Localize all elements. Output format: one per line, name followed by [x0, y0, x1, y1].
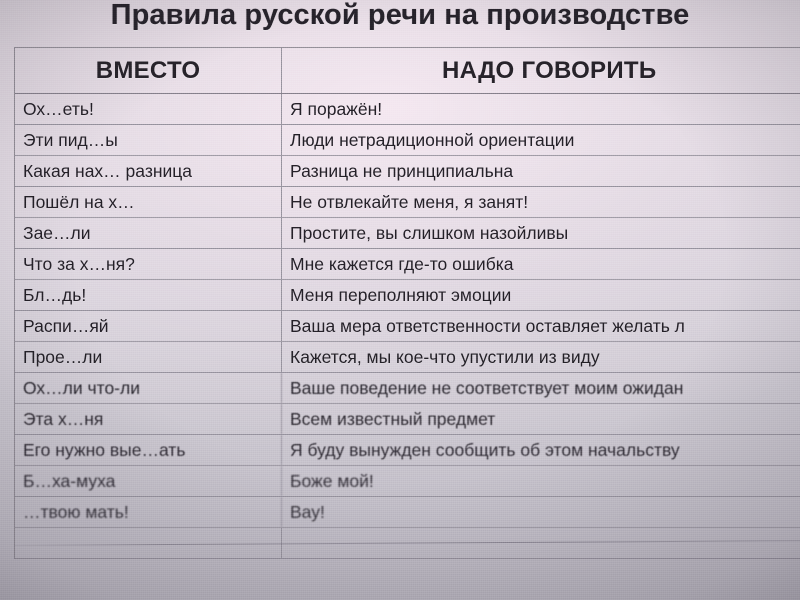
cell-instead: Прое…ли	[15, 342, 282, 372]
cell-instead: Эти пид…ы	[15, 125, 282, 155]
column-header-say: НАДО ГОВОРИТЬ	[282, 48, 800, 93]
table-row: Его нужно вые…ать Я буду вынужден сообщи…	[15, 435, 800, 466]
cell-say: Не отвлекайте меня, я занят!	[282, 187, 800, 217]
cell-say: Кажется, мы кое-что упустили из виду	[282, 342, 800, 372]
cell-instead: Ох…еть!	[15, 94, 282, 124]
cell-say: Ваше поведение не соответствует моим ожи…	[282, 373, 800, 403]
cell-instead: Зае…ли	[15, 218, 282, 248]
photographed-poster: Правила русской речи на производстве ВМЕ…	[0, 0, 800, 600]
table-row: Эта х…ня Всем известный предмет	[15, 404, 800, 435]
cell-say: Простите, вы слишком назойливы	[282, 218, 800, 248]
cell-say: Боже мой!	[282, 466, 800, 496]
table-row: Бл…дь! Меня переполняют эмоции	[15, 280, 800, 311]
page-title: Правила русской речи на производстве	[0, 0, 800, 35]
table-row: Что за х…ня? Мне кажется где-то ошибка	[15, 249, 800, 280]
cell-say: Люди нетрадиционной ориентации	[282, 125, 800, 155]
cell-say: Я поражён!	[282, 94, 800, 124]
cell-say: Вау!	[282, 497, 800, 527]
column-header-instead: ВМЕСТО	[15, 48, 282, 93]
cell-instead: Его нужно вые…ать	[15, 435, 282, 465]
cell-instead: Распи…яй	[15, 311, 282, 341]
cell-instead: Пошёл на х…	[15, 187, 282, 217]
table-row: Пошёл на х… Не отвлекайте меня, я занят!	[15, 187, 800, 218]
cell-say: Мне кажется где-то ошибка	[282, 249, 800, 279]
table-row: Ох…еть! Я поражён!	[15, 94, 800, 125]
cell-say: Разница не принципиальна	[282, 156, 800, 186]
cell-instead: Какая нах… разница	[15, 156, 282, 186]
table-row: Распи…яй Ваша мера ответственности остав…	[15, 311, 800, 342]
phrase-table: ВМЕСТО НАДО ГОВОРИТЬ Ох…еть! Я поражён! …	[14, 47, 800, 559]
cell-instead: Что за х…ня?	[15, 249, 282, 279]
table-row: Какая нах… разница Разница не принципиал…	[15, 156, 800, 187]
table-row: Ох…ли что-ли Ваше поведение не соответст…	[15, 373, 800, 404]
cell-instead: Б…ха-муха	[15, 466, 282, 496]
cell-say: Я буду вынужден сообщить об этом начальс…	[282, 435, 800, 465]
table-header-row: ВМЕСТО НАДО ГОВОРИТЬ	[15, 48, 800, 94]
table-row: Б…ха-муха Боже мой!	[15, 466, 800, 497]
cell-instead: Эта х…ня	[15, 404, 282, 434]
cell-say: Ваша мера ответственности оставляет жела…	[282, 311, 800, 341]
cell-instead: …твою мать!	[15, 497, 282, 527]
table-row: Прое…ли Кажется, мы кое-что упустили из …	[15, 342, 800, 373]
cell-instead: Ох…ли что-ли	[15, 373, 282, 403]
table-row: Зае…ли Простите, вы слишком назойливы	[15, 218, 800, 249]
table-row: …твою мать! Вау!	[15, 497, 800, 528]
cell-instead: Бл…дь!	[15, 280, 282, 310]
table-row: Эти пид…ы Люди нетрадиционной ориентации	[15, 125, 800, 156]
cell-say: Меня переполняют эмоции	[282, 280, 800, 310]
cell-say: Всем известный предмет	[282, 404, 800, 434]
